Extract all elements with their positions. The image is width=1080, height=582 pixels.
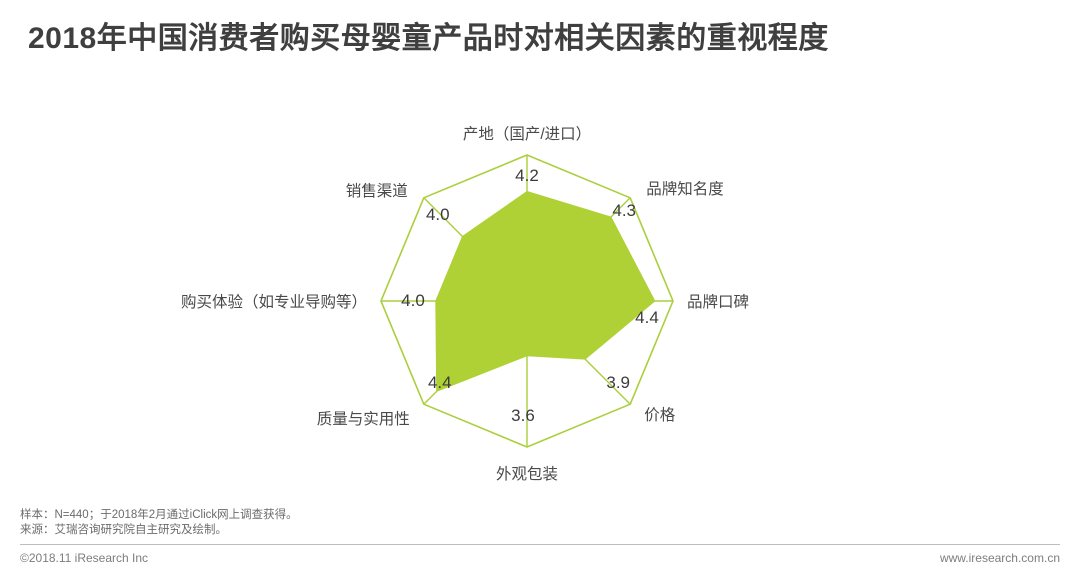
radar-series-group: [436, 192, 655, 392]
footer-notes: 样本：N=440；于2018年2月通过iClick网上调查获得。 来源：艾瑞咨询…: [20, 508, 1060, 538]
radar-axis-label: 购买体验（如专业导购等）: [181, 293, 367, 311]
radar-chart-svg: 4.24.34.43.93.64.44.04.0 产地（国产/进口）品牌知名度品…: [0, 90, 1080, 490]
radar-axis-label: 价格: [644, 406, 676, 424]
radar-data-polygon: [436, 192, 655, 392]
radar-axis-label: 质量与实用性: [317, 410, 410, 428]
sample-note: 样本：N=440；于2018年2月通过iClick网上调查获得。: [20, 508, 1060, 523]
radar-value-label: 4.2: [515, 166, 539, 185]
radar-value-label: 4.3: [612, 201, 636, 220]
radar-axis-label: 品牌口碑: [687, 293, 749, 311]
source-note: 来源：艾瑞咨询研究院自主研究及绘制。: [20, 523, 1060, 538]
website-link[interactable]: www.iresearch.com.cn: [940, 551, 1060, 565]
radar-axis-label: 销售渠道: [346, 182, 408, 200]
radar-axis-label: 外观包装: [496, 465, 558, 483]
page-title: 2018年中国消费者购买母婴童产品时对相关因素的重视程度: [28, 18, 1058, 60]
radar-value-label: 4.0: [401, 291, 425, 310]
copyright-text: ©2018.11 iResearch Inc: [20, 551, 148, 565]
footer-divider: [20, 544, 1060, 545]
radar-value-label: 3.6: [511, 406, 535, 425]
footer-bar: ©2018.11 iResearch Inc www.iresearch.com…: [20, 551, 1060, 565]
radar-value-label: 4.0: [426, 205, 450, 224]
radar-chart-area: 4.24.34.43.93.64.44.04.0 产地（国产/进口）品牌知名度品…: [0, 90, 1080, 490]
radar-value-label: 4.4: [635, 308, 659, 327]
radar-axis-label: 品牌知名度: [646, 180, 724, 198]
radar-axis-label: 产地（国产/进口）: [463, 125, 591, 143]
slide-root: 2018年中国消费者购买母婴童产品时对相关因素的重视程度 4.24.34.43.…: [0, 0, 1080, 582]
radar-value-label: 3.9: [606, 373, 630, 392]
radar-value-label: 4.4: [428, 373, 452, 392]
